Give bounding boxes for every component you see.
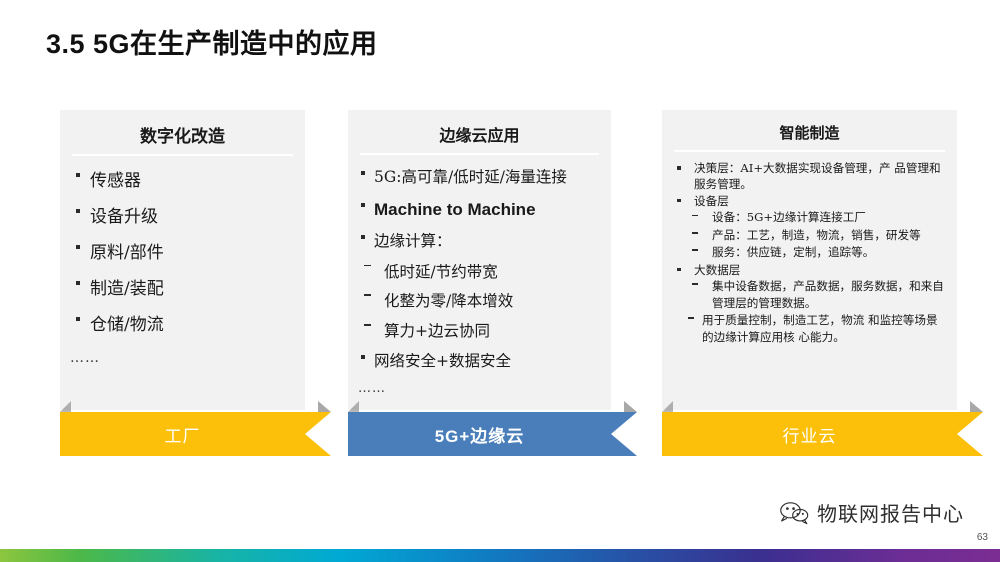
list-item: 服务：供应链，定制，追踪等。 bbox=[672, 244, 947, 260]
ribbon-fold-right-icon bbox=[970, 401, 983, 412]
list-item: 集中设备数据，产品数据，服务数据，和来自管理层的管理数据。 bbox=[672, 278, 947, 311]
bullet-list-tail: 网络安全+数据安全 …… bbox=[358, 347, 601, 402]
list-item: 化整为零/降本增效 bbox=[358, 287, 601, 316]
list-item: 5G:高可靠/低时延/海量连接 bbox=[358, 163, 601, 192]
card-title: 数字化改造 bbox=[70, 122, 295, 154]
bullet-list-mid: 大数据层 bbox=[672, 262, 947, 278]
bullet-list: 决策层：AI+大数据实现设备管理，产 品管理和服务管理。 设备层 bbox=[672, 160, 947, 209]
column-edge-cloud-applications: 边缘云应用 5G:高可靠/低时延/海量连接 Machine to Machine… bbox=[348, 110, 611, 410]
list-item: 低时延/节约带宽 bbox=[358, 258, 601, 287]
list-item: 原料/部件 bbox=[70, 236, 295, 270]
ribbon-shape: 工厂 bbox=[60, 412, 305, 456]
card-body: 决策层：AI+大数据实现设备管理，产 品管理和服务管理。 设备层 设备：5G+边… bbox=[672, 160, 947, 345]
card-divider bbox=[72, 154, 293, 156]
bottom-gradient-bar bbox=[0, 549, 1000, 562]
columns-container: 数字化改造 传感器 设备升级 原料/部件 制造/装配 仓储/物流 …… bbox=[0, 110, 1000, 460]
list-item: 制造/装配 bbox=[70, 272, 295, 306]
card-title: 边缘云应用 bbox=[358, 122, 601, 153]
sub-bullet-list: 设备：5G+边缘计算连接工厂 产品：工艺，制造，物流，销售，研发等 服务：供应链… bbox=[672, 209, 947, 260]
list-item: 设备：5G+边缘计算连接工厂 bbox=[672, 209, 947, 225]
watermark-text: 物联网报告中心 bbox=[817, 498, 964, 527]
card-intelligent-manufacturing: 智能制造 决策层：AI+大数据实现设备管理，产 品管理和服务管理。 设备层 设备… bbox=[662, 110, 957, 410]
ribbon-label: 工厂 bbox=[165, 422, 201, 447]
list-item: Machine to Machine bbox=[358, 194, 601, 225]
card-digital-transformation: 数字化改造 传感器 设备升级 原料/部件 制造/装配 仓储/物流 …… bbox=[60, 110, 305, 410]
list-item: 产品：工艺，制造，物流，销售，研发等 bbox=[672, 227, 947, 243]
bullet-list: 传感器 设备升级 原料/部件 制造/装配 仓储/物流 …… bbox=[70, 164, 295, 372]
card-body: 5G:高可靠/低时延/海量连接 Machine to Machine 边缘计算：… bbox=[358, 163, 601, 402]
ribbon-fold-right-icon bbox=[624, 401, 637, 412]
list-item: 传感器 bbox=[70, 164, 295, 198]
column-intelligent-manufacturing: 智能制造 决策层：AI+大数据实现设备管理，产 品管理和服务管理。 设备层 设备… bbox=[662, 110, 957, 410]
ribbon-shape: 5G+边缘云 bbox=[348, 412, 611, 456]
list-item: 决策层：AI+大数据实现设备管理，产 品管理和服务管理。 bbox=[672, 160, 947, 193]
ribbon-label: 行业云 bbox=[783, 422, 837, 447]
card-body: 传感器 设备升级 原料/部件 制造/装配 仓储/物流 …… bbox=[70, 164, 295, 372]
ribbon-industry-cloud: 行业云 bbox=[662, 412, 957, 460]
page-title: 3.5 5G在生产制造中的应用 bbox=[46, 22, 378, 61]
bullet-list: 5G:高可靠/低时延/海量连接 Machine to Machine 边缘计算： bbox=[358, 163, 601, 256]
card-divider bbox=[360, 153, 599, 155]
list-item: 算力+边云协同 bbox=[358, 317, 601, 346]
ribbon-label: 5G+边缘云 bbox=[435, 422, 525, 447]
list-item: 设备升级 bbox=[70, 200, 295, 234]
ribbon-shape: 行业云 bbox=[662, 412, 957, 456]
ribbon-fold-right-icon bbox=[318, 401, 331, 412]
ribbon-fold-left-icon bbox=[662, 401, 673, 412]
card-title: 智能制造 bbox=[672, 122, 947, 150]
list-item: 大数据层 bbox=[672, 262, 947, 278]
ribbon-fold-left-icon bbox=[348, 401, 359, 412]
list-item-ellipsis: …… bbox=[70, 344, 295, 372]
ribbon-5g-edge-cloud: 5G+边缘云 bbox=[348, 412, 611, 460]
page-number: 63 bbox=[977, 532, 988, 543]
list-item: 网络安全+数据安全 bbox=[358, 347, 601, 376]
column-digital-transformation: 数字化改造 传感器 设备升级 原料/部件 制造/装配 仓储/物流 …… bbox=[60, 110, 305, 410]
slide-root: { "slide": { "title": "3.5 5G在生产制造中的应用",… bbox=[0, 0, 1000, 562]
card-edge-cloud-applications: 边缘云应用 5G:高可靠/低时延/海量连接 Machine to Machine… bbox=[348, 110, 611, 410]
list-item: 仓储/物流 bbox=[70, 308, 295, 342]
list-item: 边缘计算： bbox=[358, 227, 601, 256]
sub-bullet-list-tail: 集中设备数据，产品数据，服务数据，和来自管理层的管理数据。 用于质量控制，制造工… bbox=[672, 278, 947, 345]
ribbon-factory: 工厂 bbox=[60, 412, 305, 460]
card-divider bbox=[674, 150, 945, 152]
ribbon-fold-left-icon bbox=[60, 401, 71, 412]
watermark: 物联网报告中心 bbox=[779, 498, 964, 527]
list-item-ellipsis: …… bbox=[358, 377, 601, 401]
sub-bullet-list: 低时延/节约带宽 化整为零/降本增效 算力+边云协同 bbox=[358, 258, 601, 346]
list-item: 设备层 bbox=[672, 193, 947, 209]
list-item: 用于质量控制，制造工艺，物流 和监控等场景的边缘计算应用核 心能力。 bbox=[672, 312, 947, 345]
wechat-logo-icon bbox=[779, 501, 809, 525]
